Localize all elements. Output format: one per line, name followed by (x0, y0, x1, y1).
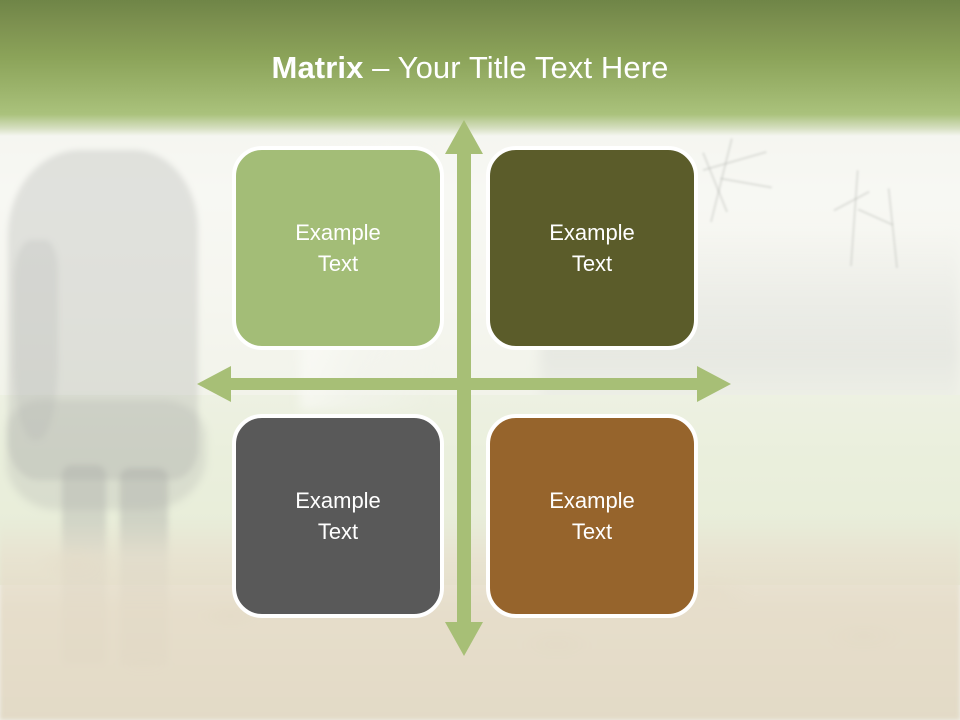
quadrant-top-left[interactable]: Example Text (232, 146, 444, 350)
quadrant-bottom-right-label: Example Text (549, 485, 635, 547)
matrix-axes (0, 0, 960, 720)
quadrant-bottom-left[interactable]: Example Text (232, 414, 444, 618)
quadrant-bottom-left-label: Example Text (295, 485, 381, 547)
quadrant-top-left-label: Example Text (295, 217, 381, 279)
quadrant-top-right-label: Example Text (549, 217, 635, 279)
slide-canvas: Matrix – Your Title Text Here Example Te… (0, 0, 960, 720)
quadrant-bottom-right[interactable]: Example Text (486, 414, 698, 618)
quadrant-top-right[interactable]: Example Text (486, 146, 698, 350)
